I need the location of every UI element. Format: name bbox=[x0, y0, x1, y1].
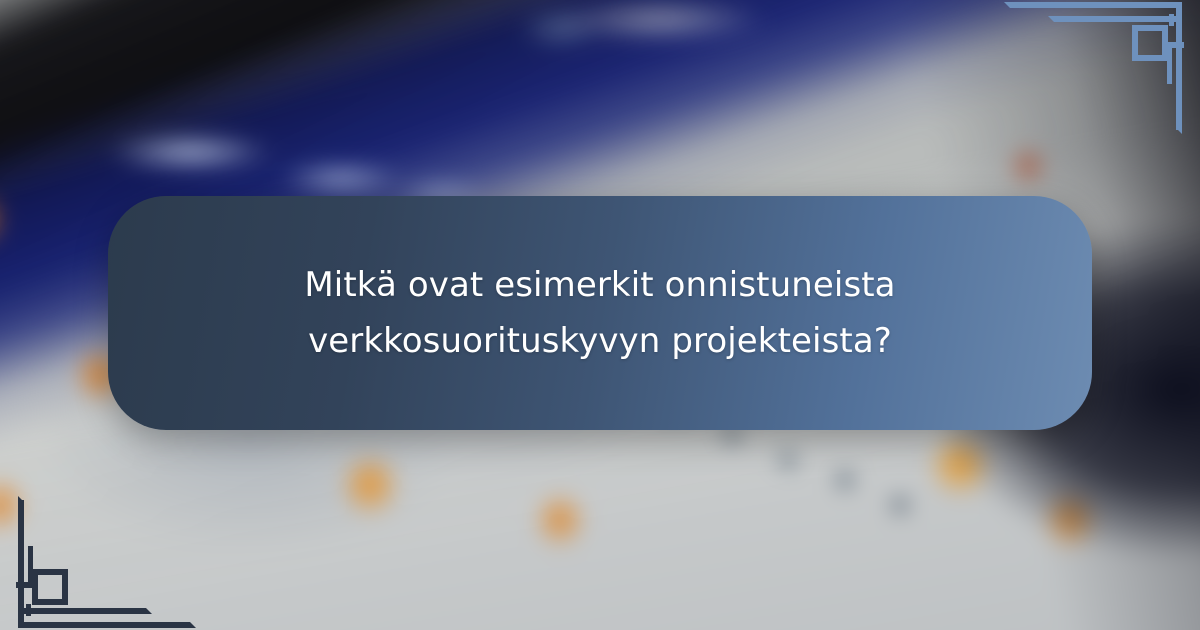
screenshot-canvas: Mitkä ovat esimerkit onnistuneista verkk… bbox=[0, 0, 1200, 630]
question-text: Mitkä ovat esimerkit onnistuneista verkk… bbox=[108, 257, 1092, 369]
question-card: Mitkä ovat esimerkit onnistuneista verkk… bbox=[108, 196, 1092, 430]
